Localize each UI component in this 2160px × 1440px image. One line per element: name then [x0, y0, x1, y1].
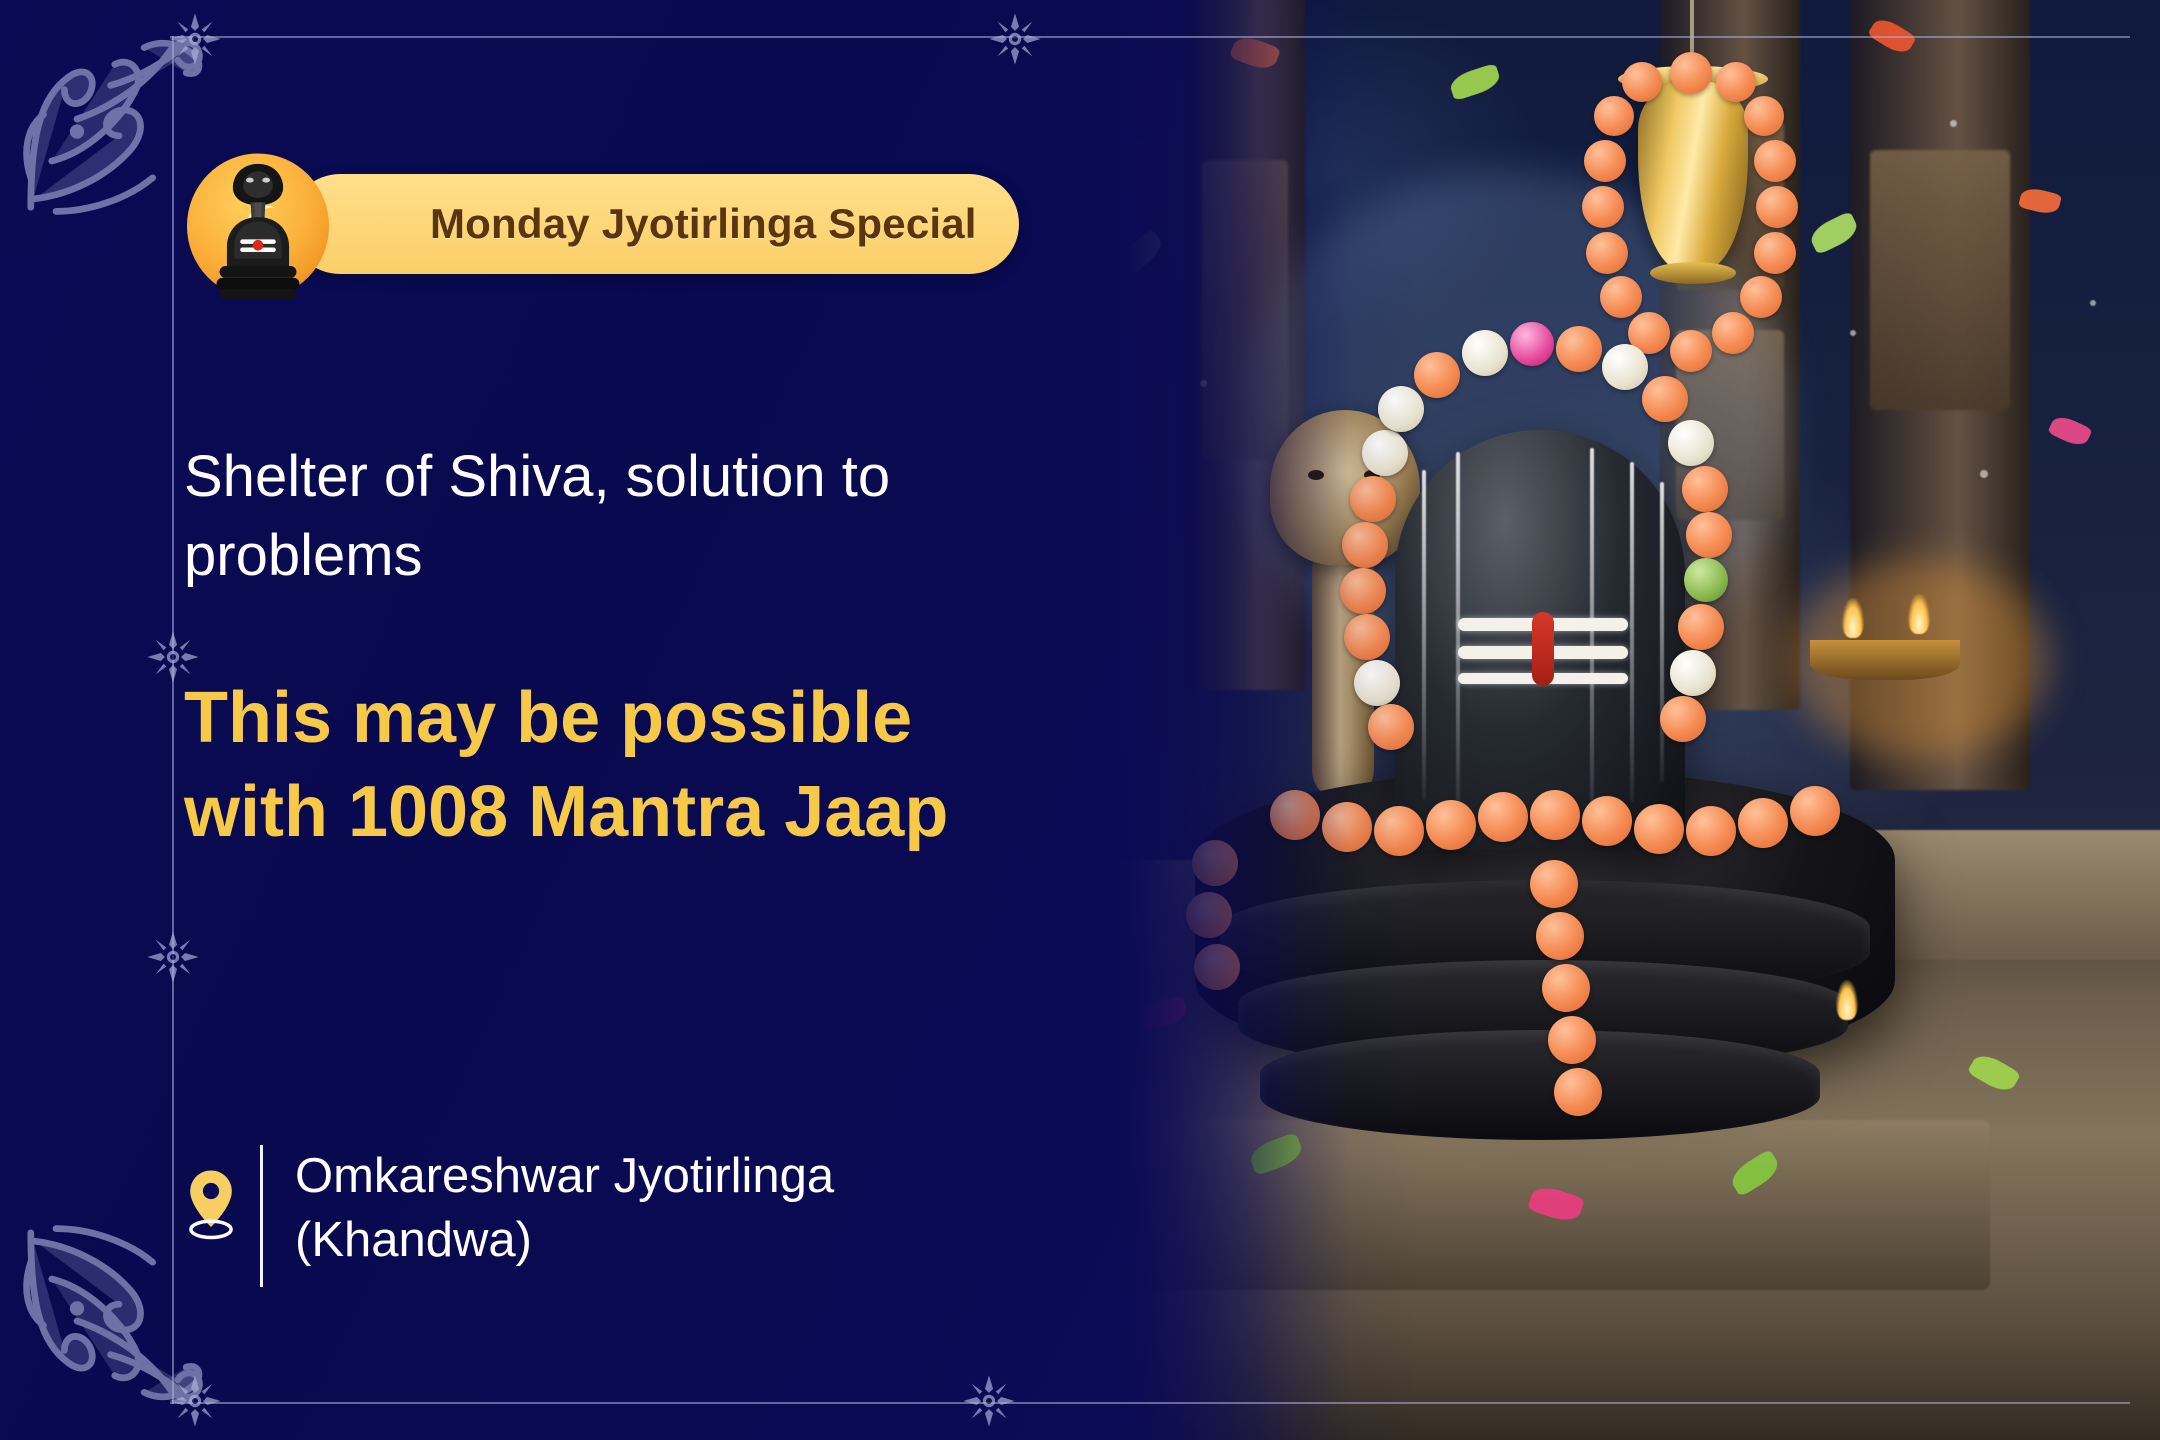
- pillar-carving: [1870, 150, 2010, 410]
- star-flower-motif-icon: [146, 930, 200, 984]
- star-flower-motif-icon: [988, 12, 1042, 66]
- badge-pill[interactable]: Monday Jyotirlinga Special: [290, 174, 1019, 274]
- star-flower-motif-icon: [168, 1374, 222, 1428]
- location-pin-icon: [184, 1167, 238, 1241]
- abhishek-drip: [1630, 462, 1634, 802]
- hanging-brass-kalash: [1638, 80, 1748, 270]
- location-name: Omkareshwar Jyotirlinga (Khandwa): [295, 1145, 995, 1272]
- diya-flame: [1836, 980, 1858, 1020]
- shiva-lingam-icon: [182, 152, 334, 300]
- bindu-mark: [1532, 612, 1554, 686]
- abhishek-drip: [1422, 470, 1426, 800]
- oil-lamp-diya: [1810, 640, 1960, 680]
- diya-flame: [1842, 598, 1864, 638]
- frame-line-bottom: [170, 1402, 2130, 1404]
- kalash-foot: [1650, 262, 1736, 284]
- star-flower-motif-icon: [962, 1374, 1016, 1428]
- tripundra-mark: [1458, 612, 1628, 686]
- badge-label: Monday Jyotirlinga Special: [430, 200, 977, 248]
- abhishek-drip: [1660, 482, 1664, 782]
- location-block: Omkareshwar Jyotirlinga (Khandwa): [184, 1145, 995, 1287]
- light-sparkle: [1980, 470, 1988, 478]
- subheading: Shelter of Shiva, solution to problems: [184, 438, 1044, 596]
- page-title: This may be possible with 1008 Mantra Ja…: [184, 672, 1064, 859]
- light-sparkle: [2090, 300, 2096, 306]
- diya-flame: [1908, 594, 1930, 634]
- frame-line-left: [172, 36, 174, 1404]
- flower-petal: [1448, 63, 1503, 101]
- star-flower-motif-icon: [168, 12, 222, 66]
- poster-canvas: Monday Jyotirlinga Special: [0, 0, 2160, 1440]
- flower-petal: [2047, 413, 2093, 450]
- location-divider: [260, 1145, 263, 1287]
- light-sparkle: [1950, 120, 1957, 127]
- light-sparkle: [1850, 330, 1856, 336]
- frame-line-top: [170, 36, 2130, 38]
